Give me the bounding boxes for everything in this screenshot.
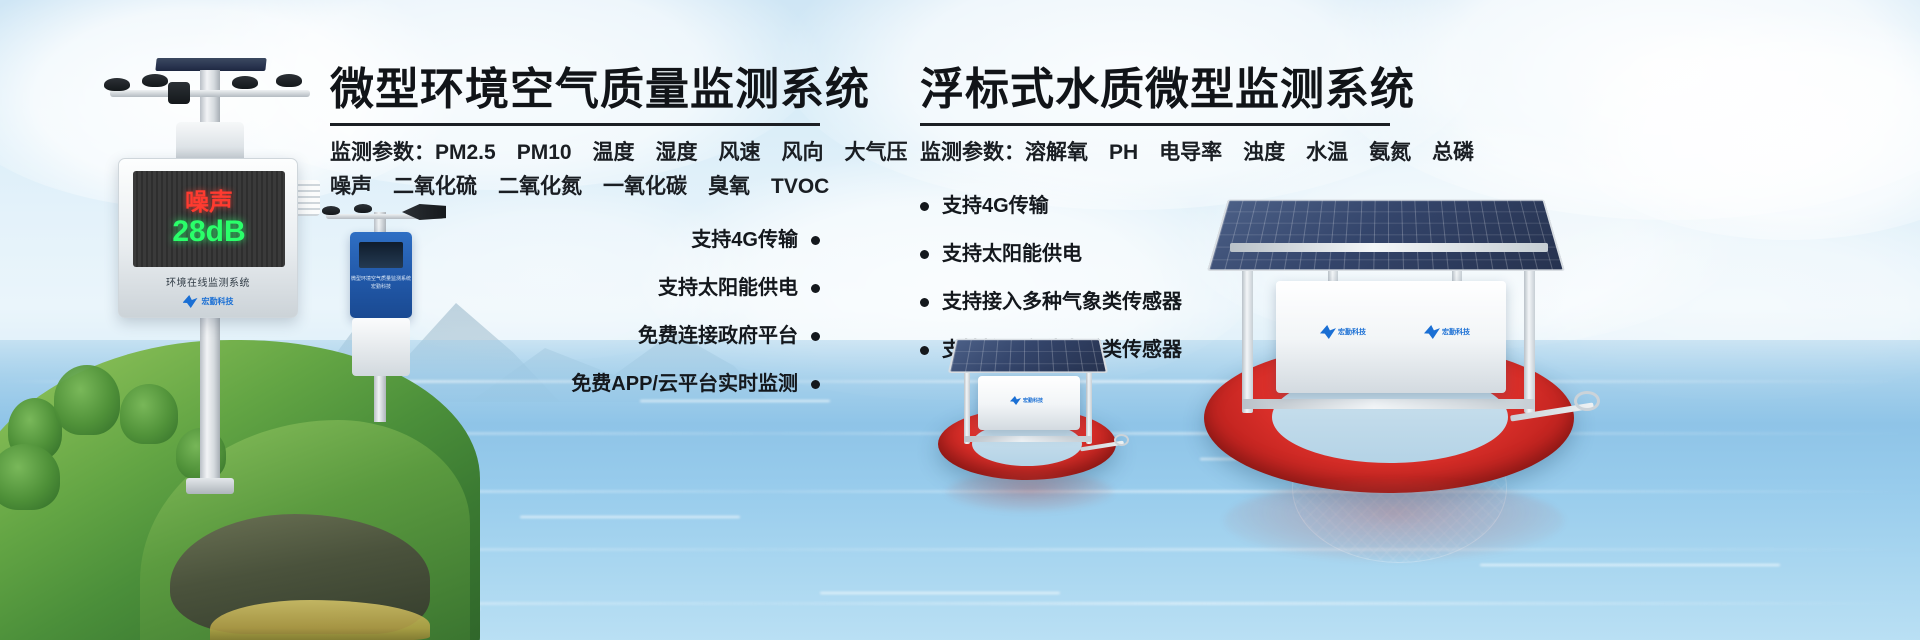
left-panel-divider <box>330 123 820 126</box>
buoy-water-reflection <box>1224 481 1564 561</box>
feature-label: 免费连接政府平台 <box>638 326 798 346</box>
feature-label: 支持4G传输 <box>691 230 798 250</box>
feature-label: 支持太阳能供电 <box>658 278 798 298</box>
cabinet-brand-logo: 宏勤科技 <box>1010 396 1043 405</box>
brand-name: 宏勤科技 <box>1023 397 1043 404</box>
list-item: 支持4G传输 <box>691 230 820 250</box>
station-display-cabinet: 噪声 28dB 环境在线监测系统 宏勤科技 <box>118 158 298 318</box>
water-quality-buoy-small: 宏勤科技 <box>930 332 1130 512</box>
bullet-icon <box>920 346 929 355</box>
left-params-label: 监测参数： <box>330 141 435 164</box>
anemometer-cup-icon <box>276 74 302 87</box>
air-quality-monitoring-station: 噪声 28dB 环境在线监测系统 宏勤科技 <box>90 30 350 500</box>
left-panel-parameters: 监测参数：PM2.5 PM10 温度 湿度 风速 风向 大气压 噪声 二氧化硫 … <box>330 136 820 204</box>
buoy-instrument-cabinet: 宏勤科技 宏勤科技 <box>1276 281 1506 393</box>
solar-panel <box>1207 199 1565 271</box>
right-params-line1: 溶解氧 PH 电导率 浊度 水温 氨氮 总磷 <box>1025 141 1474 164</box>
solar-panel <box>948 339 1108 373</box>
buoy-instrument-cabinet: 宏勤科技 <box>978 376 1080 430</box>
brand-name: 宏勤科技 <box>1442 327 1470 337</box>
right-panel-parameters: 监测参数：溶解氧 PH 电导率 浊度 水温 氨氮 总磷 <box>920 136 1390 170</box>
product-banner: 噪声 28dB 环境在线监测系统 宏勤科技 微型环境空气质量监测系统 宏勤科技 … <box>0 0 1920 640</box>
brand-name: 宏勤科技 <box>202 296 234 307</box>
list-item: 支持太阳能供电 <box>658 278 820 298</box>
led-display-screen: 噪声 28dB <box>133 171 285 267</box>
brand-name: 宏勤科技 <box>1338 327 1366 337</box>
anemometer-cup-icon <box>104 78 130 91</box>
right-panel-divider <box>920 123 1390 126</box>
left-product-panel: 微型环境空气质量监测系统 监测参数：PM2.5 PM10 温度 湿度 风速 风向… <box>330 66 820 394</box>
left-params-line2: 噪声 二氧化硫 二氧化氮 一氧化碳 臭氧 TVOC <box>330 175 829 198</box>
station-caption: 环境在线监测系统 <box>119 274 297 289</box>
bullet-icon <box>920 250 929 259</box>
buoy-frame-rail <box>1242 399 1535 409</box>
bullet-icon <box>920 298 929 307</box>
bullet-icon <box>811 380 820 389</box>
list-item: 免费APP/云平台实时监测 <box>571 374 820 394</box>
right-panel-title: 浮标式水质微型监测系统 <box>920 66 1390 114</box>
swoosh-icon <box>1010 396 1021 405</box>
cabinet-brand-logo-left: 宏勤科技 <box>1320 325 1366 339</box>
station-base <box>186 478 234 494</box>
water-quality-buoy-large: 宏勤科技 宏勤科技 <box>1180 185 1600 575</box>
list-item: 免费连接政府平台 <box>638 326 820 346</box>
feature-label: 免费APP/云平台实时监测 <box>571 374 798 394</box>
swoosh-icon <box>1320 325 1336 339</box>
buoy-frame-rail <box>964 436 1092 442</box>
left-panel-feature-list: 支持4G传输 支持太阳能供电 免费连接政府平台 免费APP/云平台实时监测 <box>330 230 820 394</box>
noise-value: 28dB <box>172 217 245 247</box>
anemometer-cup-icon <box>232 76 258 89</box>
cloud-decoration <box>1560 10 1920 240</box>
anemometer-cup-icon <box>142 74 168 87</box>
buoy-mooring-ring-icon <box>1114 434 1129 446</box>
list-item: 支持太阳能供电 <box>920 244 1082 264</box>
bullet-icon <box>811 332 820 341</box>
bullet-icon <box>811 284 820 293</box>
feature-label: 支持接入多种气象类传感器 <box>942 292 1182 312</box>
bullet-icon <box>811 236 820 245</box>
left-params-line1: PM2.5 PM10 温度 湿度 风速 风向 大气压 <box>435 141 908 164</box>
list-item: 支持4G传输 <box>920 196 1049 216</box>
wind-sensor-body-icon <box>168 82 190 104</box>
buoy-mooring-ring-icon <box>1574 391 1600 411</box>
feature-label: 支持4G传输 <box>942 196 1049 216</box>
left-panel-title: 微型环境空气质量监测系统 <box>330 66 820 114</box>
list-item: 支持接入多种气象类传感器 <box>920 292 1182 312</box>
swoosh-icon <box>1424 325 1440 339</box>
right-params-label: 监测参数： <box>920 141 1025 164</box>
cabinet-brand-logo-right: 宏勤科技 <box>1424 325 1470 339</box>
swoosh-icon <box>183 295 198 308</box>
buoy-water-reflection <box>946 472 1114 512</box>
feature-label: 支持太阳能供电 <box>942 244 1082 264</box>
solar-panel-frame <box>1230 243 1548 252</box>
noise-label: 噪声 <box>185 191 233 215</box>
sensor-crossarm <box>110 90 310 97</box>
brand-logo: 宏勤科技 <box>119 295 297 308</box>
bullet-icon <box>920 202 929 211</box>
